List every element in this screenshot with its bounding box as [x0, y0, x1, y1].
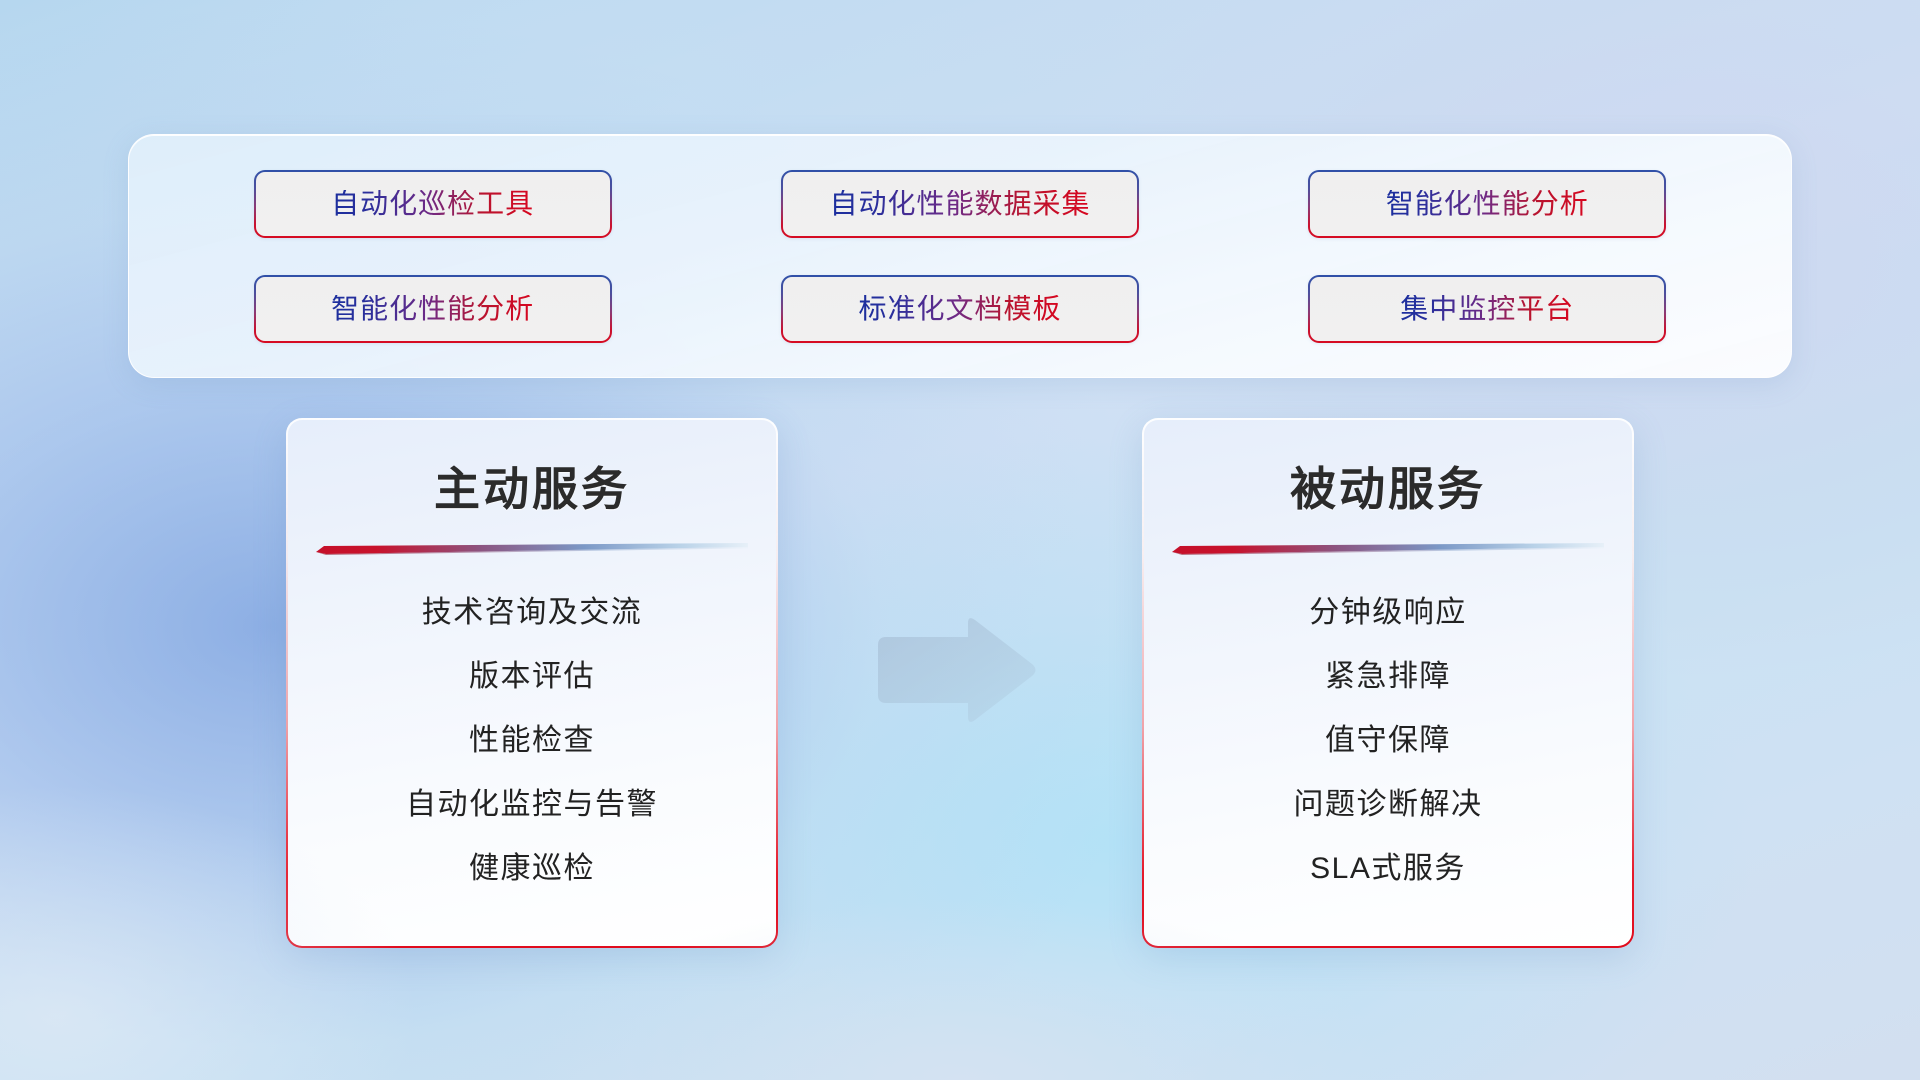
service-card-active[interactable]: 主动服务: [286, 418, 778, 948]
card-list-item[interactable]: SLA式服务: [1310, 837, 1466, 901]
card-list-item[interactable]: 自动化监控与告警: [406, 773, 658, 837]
arrow-right-icon: [872, 614, 1040, 726]
service-card-passive[interactable]: 被动服务: [1142, 418, 1634, 948]
card-divider: [316, 543, 748, 555]
capability-tag-label: 智能化性能分析: [331, 295, 534, 323]
capability-tag-label: 智能化性能分析: [1386, 190, 1589, 218]
card-list-item[interactable]: 健康巡检: [469, 837, 595, 901]
capability-tag-label: 自动化巡检工具: [331, 190, 534, 218]
card-list-item[interactable]: 紧急排障: [1325, 645, 1451, 709]
capability-tag-3[interactable]: 智能化性能分析: [1308, 170, 1666, 238]
capability-tag-1[interactable]: 自动化巡检工具: [254, 170, 612, 238]
capability-tag-4[interactable]: 智能化性能分析: [254, 275, 612, 343]
card-item-list: 技术咨询及交流 版本评估 性能检查 自动化监控与告警 健康巡检: [318, 581, 746, 901]
capability-tag-label: 集中监控平台: [1400, 295, 1574, 323]
card-list-item[interactable]: 版本评估: [469, 645, 595, 709]
card-list-item[interactable]: 分钟级响应: [1309, 581, 1467, 645]
capability-tag-5[interactable]: 标准化文档模板: [781, 275, 1139, 343]
card-title: 主动服务: [434, 464, 630, 515]
capability-tag-label: 标准化文档模板: [858, 295, 1061, 323]
card-list-item[interactable]: 值守保障: [1325, 709, 1451, 773]
slide-canvas: 自动化巡检工具 自动化性能数据采集 智能化性能分析 智能化性能分析 标准化文档模…: [0, 0, 1920, 1080]
capability-tag-panel: 自动化巡检工具 自动化性能数据采集 智能化性能分析 智能化性能分析 标准化文档模…: [128, 134, 1792, 378]
card-list-item[interactable]: 性能检查: [469, 709, 595, 773]
card-title: 被动服务: [1290, 464, 1486, 515]
capability-tag-2[interactable]: 自动化性能数据采集: [781, 170, 1139, 238]
card-list-item[interactable]: 问题诊断解决: [1294, 773, 1483, 837]
card-divider: [1172, 543, 1604, 555]
capability-tag-6[interactable]: 集中监控平台: [1308, 275, 1666, 343]
card-item-list: 分钟级响应 紧急排障 值守保障 问题诊断解决 SLA式服务: [1174, 581, 1602, 901]
capability-tag-label: 自动化性能数据采集: [829, 190, 1090, 218]
card-list-item[interactable]: 技术咨询及交流: [422, 581, 643, 645]
